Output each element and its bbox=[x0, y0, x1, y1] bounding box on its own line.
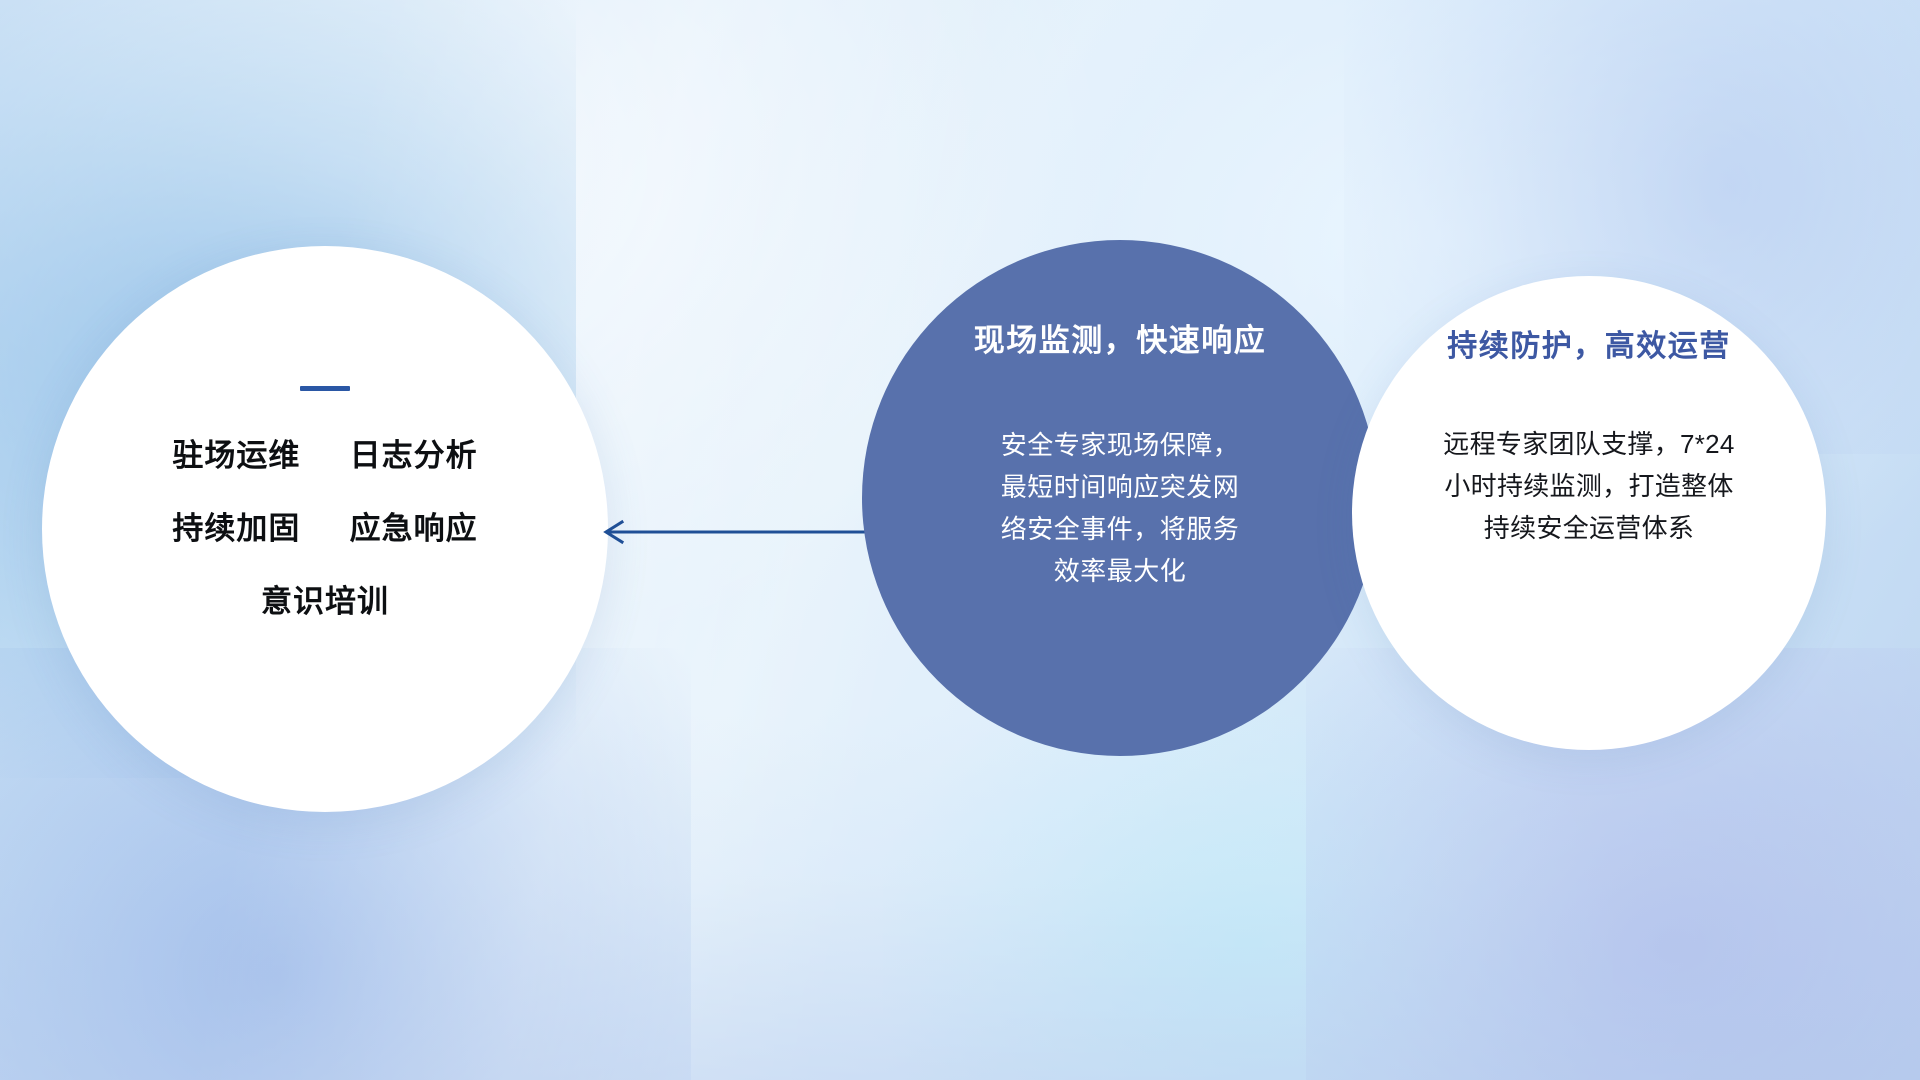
diagram-stage: 驻场运维 日志分析 持续加固 应急响应 意识培训 现场监测，快速响应 安全专家现… bbox=[0, 0, 1920, 1080]
left-circle-keyword-2: 日志分析 bbox=[350, 438, 478, 473]
mid-circle-body: 安全专家现场保障， 最短时间响应突发网 络安全事件，将服务 效率最大化 bbox=[1001, 424, 1240, 592]
right-circle-body-line: 小时持续监测，打造整体 bbox=[1443, 465, 1734, 507]
left-circle-keyword-5: 意识培训 bbox=[261, 584, 389, 619]
connector-arrow bbox=[594, 520, 894, 544]
mid-circle-title: 现场监测，快速响应 bbox=[974, 324, 1267, 358]
right-circle-body-line: 远程专家团队支撑，7*24 bbox=[1443, 423, 1734, 465]
right-circle-body-line: 持续安全运营体系 bbox=[1443, 507, 1734, 549]
left-circle-keyword-4: 应急响应 bbox=[350, 511, 478, 546]
left-circle-keyword-3: 持续加固 bbox=[172, 511, 300, 546]
left-circle-keyword-1: 驻场运维 bbox=[172, 438, 300, 473]
right-circle-body: 远程专家团队支撑，7*24 小时持续监测，打造整体 持续安全运营体系 bbox=[1443, 423, 1734, 549]
right-operations-circle: 持续防护，高效运营 远程专家团队支撑，7*24 小时持续监测，打造整体 持续安全… bbox=[1352, 276, 1826, 750]
arrow-left-icon bbox=[594, 520, 894, 544]
mid-circle-body-line: 最短时间响应突发网 bbox=[1001, 466, 1240, 508]
mid-circle-body-line: 效率最大化 bbox=[1001, 550, 1240, 592]
mid-circle-body-line: 络安全事件，将服务 bbox=[1001, 508, 1240, 550]
left-circle-line-3: 意识培训 bbox=[261, 586, 389, 617]
mid-circle-body-line: 安全专家现场保障， bbox=[1001, 424, 1240, 466]
left-capability-circle: 驻场运维 日志分析 持续加固 应急响应 意识培训 bbox=[42, 246, 608, 812]
left-circle-line-1: 驻场运维 日志分析 bbox=[172, 440, 477, 471]
divider-rule-icon bbox=[300, 386, 350, 391]
mid-onsite-circle: 现场监测，快速响应 安全专家现场保障， 最短时间响应突发网 络安全事件，将服务 … bbox=[862, 240, 1378, 756]
right-circle-title: 持续防护，高效运营 bbox=[1447, 330, 1731, 363]
left-circle-line-2: 持续加固 应急响应 bbox=[172, 513, 477, 544]
